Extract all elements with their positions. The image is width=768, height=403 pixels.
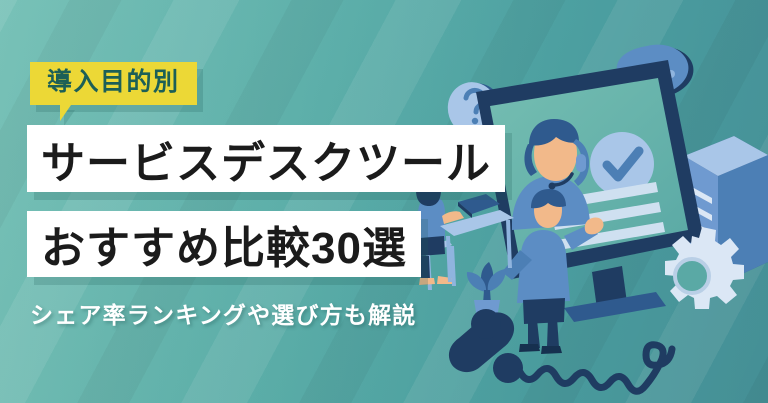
page-title-line-1: サービスデスクツール [27,125,505,192]
monitor-stand [564,266,666,322]
category-badge: 導入目的別 [30,62,197,105]
page-subtitle: シェア率ランキングや選び方も解説 [30,296,417,330]
page-title-line-2: おすすめ比較30選 [27,211,421,277]
category-badge-tail [60,105,82,121]
banner-image: 導入目的別 サービスデスクツール おすすめ比較30選 シェア率ランキングや選び方… [0,0,768,403]
text-block: 導入目的別 サービスデスクツール おすすめ比較30選 シェア率ランキングや選び方… [0,0,540,403]
